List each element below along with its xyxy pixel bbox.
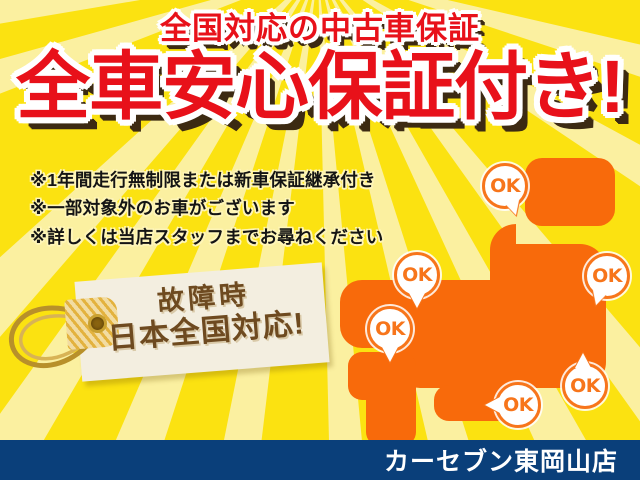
ok-badge-tail-icon (575, 353, 591, 368)
headline-block: 全国対応の中古車保証 全車安心保証付き! (0, 0, 640, 124)
ok-badge: OK (495, 382, 541, 428)
note-line: ※一部対象外のお車がございます (30, 194, 384, 222)
note-line: ※詳しくは当店スタッフまでお尋ねください (30, 223, 384, 251)
ok-badge: OK (482, 163, 528, 209)
ok-badge-tail-icon (409, 293, 425, 308)
ok-badge-label: OK (592, 265, 622, 287)
ok-badge-tail-icon (382, 347, 398, 362)
ok-badge: OK (394, 252, 440, 298)
ok-badge-tail-icon (485, 397, 500, 413)
store-name: カーセブン東岡山店 (384, 442, 618, 478)
main-headline: 全車安心保証付き! (0, 50, 640, 124)
ok-badge-label: OK (490, 175, 520, 197)
price-tag: 故障時 日本全国対応! (0, 262, 340, 387)
note-line: ※1年間走行無制限または新車保証継承付き (30, 166, 384, 194)
ok-badge-label: OK (402, 264, 432, 286)
ok-badge-label: OK (375, 318, 405, 340)
footer-bar: カーセブン東岡山店 (0, 440, 640, 480)
notes-list: ※1年間走行無制限または新車保証継承付き ※一部対象外のお車がございます ※詳し… (30, 166, 384, 251)
ok-badge-label: OK (570, 375, 600, 397)
ok-badge: OK (367, 306, 413, 352)
ok-badge: OK (562, 363, 608, 409)
advertisement-banner: OK OK OK OK OK OK 全国対応の中古車保証 全車安心保証付き! ※… (0, 0, 640, 480)
ok-badge: OK (584, 253, 630, 299)
sub-headline: 全国対応の中古車保証 (0, 13, 640, 44)
ok-badge-label: OK (503, 394, 533, 416)
